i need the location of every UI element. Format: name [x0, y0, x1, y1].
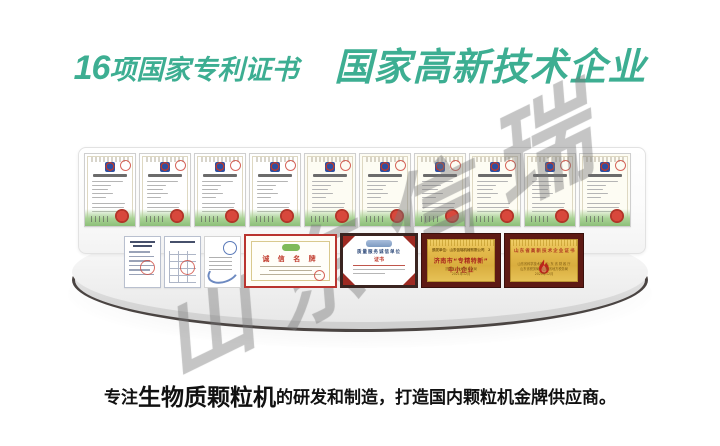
red-seal-icon: [390, 209, 404, 223]
honor-certificate[interactable]: 质量服务诚信单位 证书: [340, 233, 418, 288]
plaque-footer: 济南市工业和信息化局2021年12月: [433, 267, 489, 277]
caption-highlight: 生物质颗粒机: [138, 378, 276, 412]
caption-prefix: 专注: [104, 383, 138, 408]
headline-high-tech: 国家高新技术企业: [334, 49, 646, 87]
red-seal-icon: [115, 209, 129, 223]
red-seal-icon: [180, 260, 195, 275]
stamp-icon: [230, 160, 241, 171]
promotional-banner: 16项国家专利证书 国家高新技术企业: [0, 0, 720, 446]
plaque-issuer-line: 颁发单位：山东信瑞机械有限公司 2021年12月: [432, 248, 490, 253]
stamp-icon: [560, 160, 571, 171]
national-emblem-icon: [380, 162, 390, 172]
patent-certificate[interactable]: [304, 153, 356, 227]
patent-certificate[interactable]: [359, 153, 411, 227]
patent-certificate[interactable]: [139, 153, 191, 227]
headline-patent-count: 16项国家专利证书: [74, 51, 299, 85]
national-emblem-icon: [325, 162, 335, 172]
patent-certificate[interactable]: [249, 153, 301, 227]
patent-certificate[interactable]: [84, 153, 136, 227]
patent-certificate-row: [84, 153, 638, 227]
crest-icon: [366, 240, 392, 247]
green-badge-icon: [282, 244, 300, 251]
honor-subtitle: 证书: [343, 256, 415, 263]
red-seal-icon: [500, 209, 514, 223]
national-emblem-icon: [490, 162, 500, 172]
caption-suffix: 的研发和制造，打造国内颗粒机金牌供应商。: [276, 383, 616, 408]
stamp-icon: [615, 160, 626, 171]
honest-brand-certificate[interactable]: 诚 信 名 牌: [244, 234, 337, 288]
business-license[interactable]: [124, 236, 161, 288]
red-seal-icon: [555, 209, 569, 223]
caption-row: 专注生物质颗粒机的研发和制造，打造国内颗粒机金牌供应商。: [0, 378, 720, 412]
red-seal-icon: [445, 209, 459, 223]
national-emblem-icon: [160, 162, 170, 172]
national-emblem-icon: [105, 162, 115, 172]
red-seal-icon: [314, 270, 325, 281]
patent-certificate[interactable]: [194, 153, 246, 227]
headline-number: 16: [74, 51, 110, 85]
award-certificate-row: 诚 信 名 牌 质量服务诚信单位 证书 颁发单位：山东信瑞机械有限公司 2021…: [124, 230, 616, 288]
stamp-icon: [450, 160, 461, 171]
iso-certificate[interactable]: [204, 236, 241, 288]
plaque-company-title: 山东省高新技术企业证书: [514, 248, 574, 254]
honest-brand-title: 诚 信 名 牌: [246, 254, 335, 264]
stamp-icon: [120, 160, 131, 171]
specialized-sme-plaque[interactable]: 颁发单位：山东信瑞机械有限公司 2021年12月 济南市“专精特新”中小企业 济…: [421, 233, 501, 288]
qualification-certificate[interactable]: [164, 236, 201, 288]
patent-certificate[interactable]: [414, 153, 466, 227]
stamp-icon: [175, 160, 186, 171]
red-seal-icon: [610, 209, 624, 223]
plaque-company-footer: 山东省科学技术厅 山 东 省 财 政 厅山东省税务局 山东省地方税务局2020年…: [516, 262, 572, 277]
red-seal-icon: [335, 209, 349, 223]
stamp-icon: [395, 160, 406, 171]
headline-left-text: 项国家专利证书: [109, 57, 298, 84]
national-emblem-icon: [600, 162, 610, 172]
stamp-icon: [285, 160, 296, 171]
national-emblem-icon: [545, 162, 555, 172]
patent-certificate[interactable]: [469, 153, 521, 227]
red-seal-icon: [140, 260, 155, 275]
national-emblem-icon: [270, 162, 280, 172]
honor-title: 质量服务诚信单位: [343, 249, 415, 255]
patent-certificate[interactable]: [579, 153, 631, 227]
patent-certificate[interactable]: [524, 153, 576, 227]
red-seal-icon: [225, 209, 239, 223]
national-emblem-icon: [215, 162, 225, 172]
high-tech-enterprise-plaque[interactable]: 山东省高新技术企业证书 山东省科学技术厅 山 东 省 财 政 厅山东省税务局 山…: [504, 233, 584, 288]
national-emblem-icon: [435, 162, 445, 172]
blue-stamp-icon: [223, 241, 237, 255]
stamp-icon: [340, 160, 351, 171]
red-seal-icon: [170, 209, 184, 223]
headline-row: 16项国家专利证书 国家高新技术企业: [0, 40, 720, 96]
red-seal-icon: [280, 209, 294, 223]
stamp-icon: [505, 160, 516, 171]
